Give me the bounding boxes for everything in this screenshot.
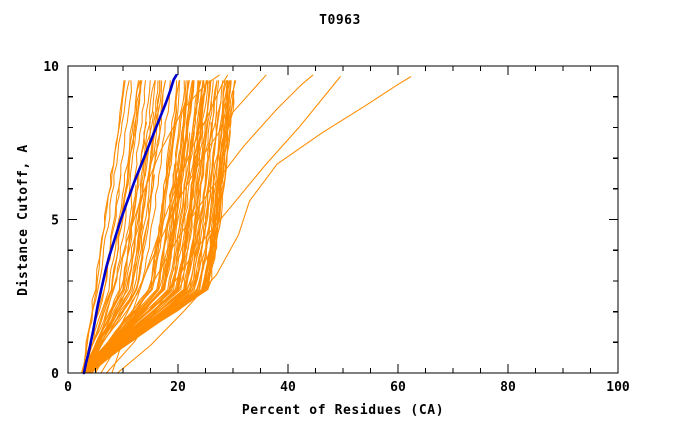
x-tick-label-0: 0 — [64, 380, 72, 395]
y-tick-label-10: 10 — [43, 60, 59, 75]
y-tick-label-0: 0 — [51, 367, 59, 382]
line-chart: 020406080100 0510 Percent of Residues (C… — [0, 0, 680, 440]
y-axis-title: Distance Cutoff, A — [16, 144, 31, 296]
y-tick-label-5: 5 — [51, 214, 59, 229]
x-tick-label-80: 80 — [500, 380, 516, 395]
model-curves-group — [82, 75, 411, 373]
plot-figure: T0963 020406080100 0510 Percent of Resid… — [0, 0, 680, 440]
x-axis-tick-labels: 020406080100 — [64, 380, 630, 395]
x-tick-label-40: 40 — [280, 380, 296, 395]
x-tick-label-100: 100 — [606, 380, 630, 395]
x-axis-title: Percent of Residues (CA) — [242, 403, 444, 418]
x-tick-label-60: 60 — [390, 380, 406, 395]
y-axis-tick-labels: 0510 — [43, 60, 59, 382]
x-tick-label-20: 20 — [170, 380, 186, 395]
